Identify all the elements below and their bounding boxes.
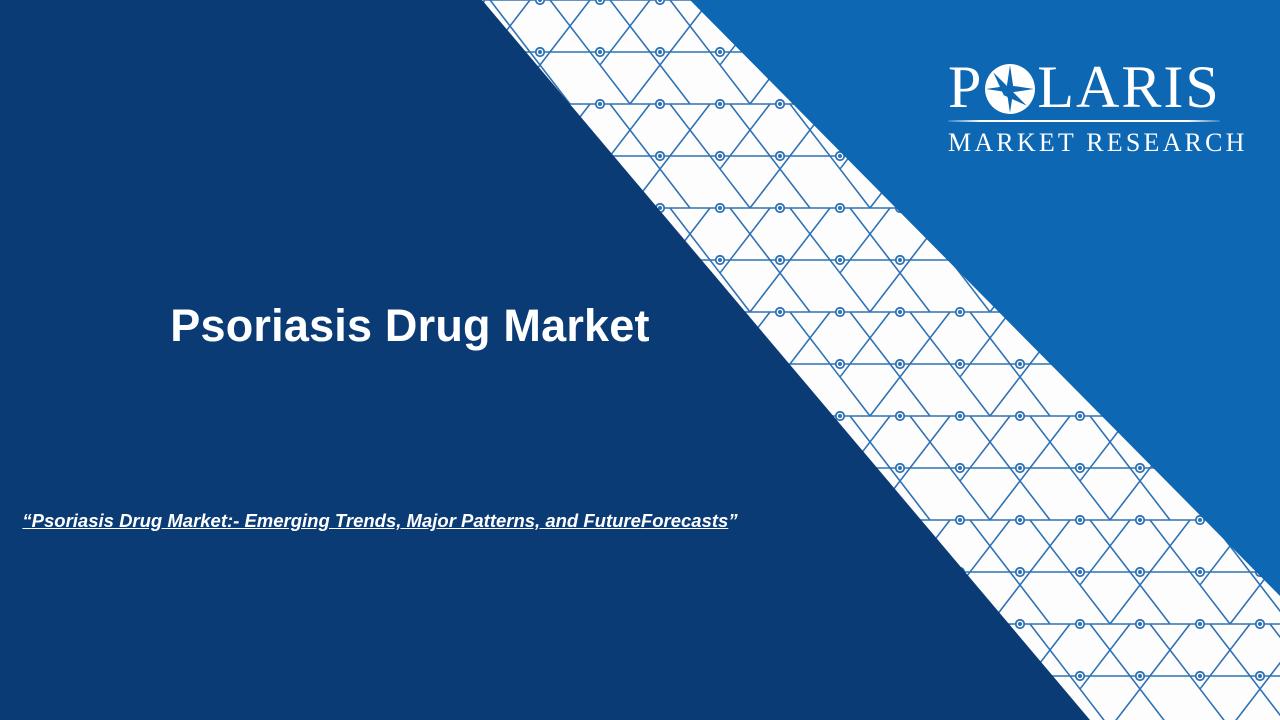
subtitle: “Psoriasis Drug Market:- Emerging Trends… [0, 508, 760, 535]
logo-tagline: MARKET RESEARCH [948, 128, 1220, 158]
logo-wordmark: PLARIS [948, 44, 1220, 118]
page-title: Psoriasis Drug Market [0, 300, 820, 352]
compass-star-icon [984, 58, 1036, 110]
subtitle-close-quote: ” [728, 510, 737, 531]
subtitle-line-1: Psoriasis Drug Market:- Emerging Trends,… [32, 510, 641, 531]
title-slide: PLARIS MARKET RESEARCH Psoriasis Drug Ma… [0, 0, 1280, 720]
subtitle-line-2: Forecasts [641, 510, 728, 531]
logo-letters-laris: LARIS [1037, 50, 1220, 124]
polaris-logo: PLARIS MARKET RESEARCH [948, 44, 1220, 166]
subtitle-open-quote: “ [22, 510, 31, 531]
logo-letter-p: P [948, 50, 983, 124]
